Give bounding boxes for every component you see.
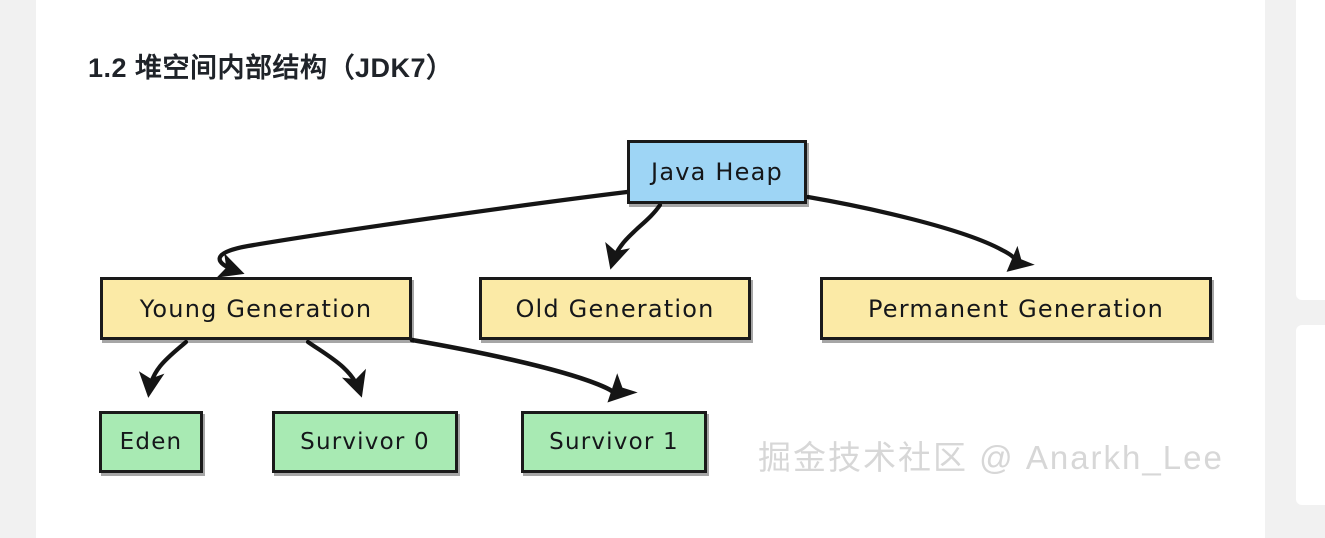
edge-young-to-survivor1 — [412, 340, 614, 398]
node-survivor-0[interactable]: Survivor 0 — [272, 411, 458, 473]
node-survivor-0-label: Survivor 0 — [300, 429, 430, 455]
node-java-heap[interactable]: Java Heap — [627, 140, 807, 204]
node-eden[interactable]: Eden — [99, 411, 203, 473]
node-permanent-generation-label: Permanent Generation — [868, 295, 1164, 323]
watermark-text: 掘金技术社区 @ Anarkh_Lee — [758, 431, 1224, 479]
node-survivor-1-label: Survivor 1 — [549, 429, 679, 455]
node-young-generation-label: Young Generation — [140, 295, 373, 323]
edge-young-to-survivor0 — [308, 342, 360, 392]
node-eden-label: Eden — [120, 429, 183, 455]
edge-heap-to-young — [220, 192, 627, 272]
node-survivor-1[interactable]: Survivor 1 — [521, 411, 707, 473]
edge-heap-to-old — [612, 205, 660, 264]
edge-young-to-eden — [149, 342, 186, 392]
edge-heap-to-permanent — [808, 197, 1015, 268]
page-root: 1.2 堆空间内部结构（JDK7） Java Heap — [0, 0, 1325, 538]
node-permanent-generation[interactable]: Permanent Generation — [820, 277, 1212, 340]
node-old-generation-label: Old Generation — [515, 295, 714, 323]
node-young-generation[interactable]: Young Generation — [100, 277, 412, 340]
node-old-generation[interactable]: Old Generation — [479, 277, 751, 340]
node-java-heap-label: Java Heap — [651, 158, 783, 186]
